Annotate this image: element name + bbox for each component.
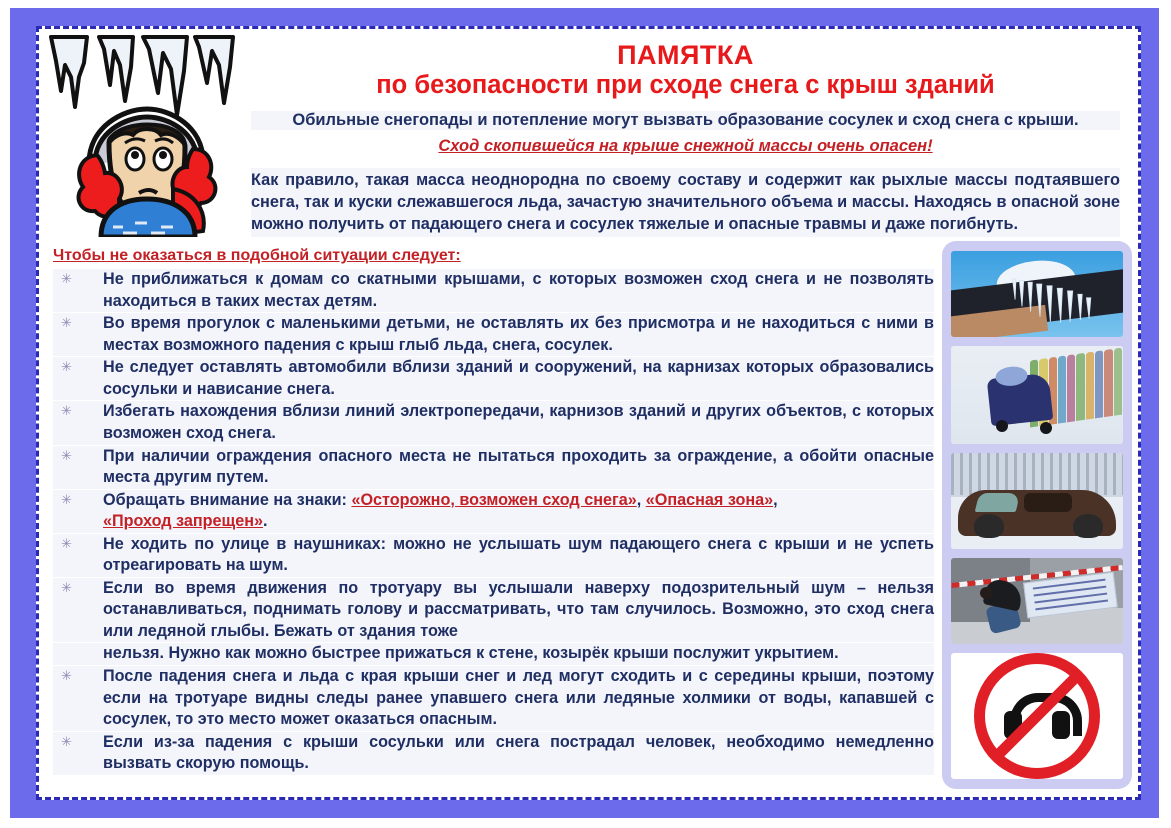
- rule-text: Избегать нахождения вблизи линий электро…: [103, 402, 934, 442]
- list-item: ✳ Если из-за падения с крыши сосульки ил…: [53, 732, 934, 775]
- signs-sep-2: ,: [773, 491, 778, 509]
- stroller-body: [987, 372, 1053, 425]
- illustration-svg: [43, 31, 243, 237]
- bullet-icon: ✳: [61, 270, 72, 287]
- signs-sep-1: ,: [637, 491, 646, 509]
- poster-outer-frame: ПАМЯТКА по безопасности при сходе снега …: [10, 8, 1159, 818]
- baby-stroller-in-snow-photo: [951, 346, 1123, 444]
- poster-inner-area: ПАМЯТКА по безопасности при сходе снега …: [36, 26, 1141, 800]
- list-item: ✳ Не ходить по улице в наушниках: можно …: [53, 534, 934, 577]
- list-item: ✳ Избегать нахождения вблизи линий элект…: [53, 401, 934, 444]
- rule-text: Во время прогулок с маленькими детьми, н…: [103, 314, 934, 354]
- bullet-icon: ✳: [61, 402, 72, 419]
- bullet-icon: ✳: [61, 447, 72, 464]
- icicles-overlay: [985, 272, 1119, 332]
- sign-label-no-entry: «Проход запрещен»: [103, 512, 263, 530]
- list-item: ✳ Не приближаться к домам со скатными кр…: [53, 269, 934, 312]
- page-title-line-1: ПАМЯТКА: [251, 41, 1120, 70]
- windshield: [974, 493, 1020, 512]
- rule-text: Не следует оставлять автомобили вблизи з…: [103, 358, 934, 398]
- prohibition-circle: [974, 653, 1100, 779]
- rule-continuation-line: нельзя. Нужно как можно быстрее прижатьс…: [53, 643, 934, 665]
- car-wheel: [1073, 514, 1103, 538]
- rule-continuation-text: нельзя. Нужно как можно быстрее прижатьс…: [103, 644, 839, 662]
- sign-container: [951, 653, 1123, 779]
- car-wheel: [974, 514, 1004, 538]
- side-window: [1024, 493, 1071, 511]
- page-title-line-2: по безопасности при сходе снега с крыш з…: [251, 71, 1120, 100]
- poster-body: Чтобы не оказаться в подобной ситуации с…: [39, 247, 1138, 789]
- poster-header: ПАМЯТКА по безопасности при сходе снега …: [39, 29, 1138, 237]
- roof-with-icicles-photo: [951, 251, 1123, 337]
- bullet-icon: ✳: [61, 314, 72, 331]
- list-item-signs: ✳ Обращать внимание на знаки: «Осторожно…: [53, 490, 934, 533]
- bullet-icon: ✳: [61, 535, 72, 552]
- person-under-icicles-illustration: [43, 31, 243, 237]
- photo-strip: [942, 241, 1132, 789]
- man-under-warning-banner-photo: [951, 558, 1123, 644]
- header-text-block: ПАМЯТКА по безопасности при сходе снега …: [243, 29, 1138, 237]
- car-body: [958, 490, 1116, 536]
- pedestrian-head: [980, 587, 993, 599]
- rule-text: После падения снега и льда с края крыши …: [103, 667, 934, 728]
- sign-label-caution: «Осторожно, возможен сход снега»: [351, 491, 636, 509]
- signs-rule-suffix: .: [263, 512, 268, 530]
- list-item: ✳ Во время прогулок с маленькими детьми,…: [53, 313, 934, 356]
- sign-label-danger-zone: «Опасная зона»: [646, 491, 773, 509]
- rules-list: ✳ Не приближаться к домам со скатными кр…: [53, 269, 934, 775]
- signs-rule-prefix: Обращать внимание на знаки:: [103, 491, 351, 509]
- intro-paragraph: Как правило, такая масса неоднородна по …: [251, 168, 1120, 237]
- lead-text: Обильные снегопады и потепление могут вы…: [251, 111, 1120, 130]
- bullet-icon: ✳: [61, 579, 72, 596]
- pedestrian: [979, 581, 1031, 633]
- list-item: ✳ Если во время движения по тротуару вы …: [53, 578, 934, 643]
- rule-text: Не приближаться к домам со скатными крыш…: [103, 270, 934, 310]
- rules-column: Чтобы не оказаться в подобной ситуации с…: [39, 247, 942, 776]
- safety-poster: ПАМЯТКА по безопасности при сходе снега …: [0, 0, 1171, 828]
- bullet-icon: ✳: [61, 667, 72, 684]
- rule-text: Не ходить по улице в наушниках: можно не…: [103, 535, 934, 575]
- rule-text: Если во время движения по тротуару вы ус…: [103, 579, 934, 640]
- rule-text: При наличии ограждения опасного места не…: [103, 447, 934, 487]
- rules-heading: Чтобы не оказаться в подобной ситуации с…: [53, 247, 934, 265]
- car-covered-with-snow-photo: [951, 453, 1123, 549]
- bullet-icon: ✳: [61, 358, 72, 375]
- rule-text: Если из-за падения с крыши сосульки или …: [103, 733, 934, 773]
- danger-note: Сход скопившейся на крыше снежной массы …: [251, 137, 1120, 156]
- bullet-icon: ✳: [61, 491, 72, 508]
- list-item: ✳ При наличии ограждения опасного места …: [53, 446, 934, 489]
- bullet-icon: ✳: [61, 733, 72, 750]
- list-item: ✳ После падения снега и льда с края крыш…: [53, 666, 934, 731]
- no-headphones-sign: [951, 653, 1123, 779]
- list-item: ✳ Не следует оставлять автомобили вблизи…: [53, 357, 934, 400]
